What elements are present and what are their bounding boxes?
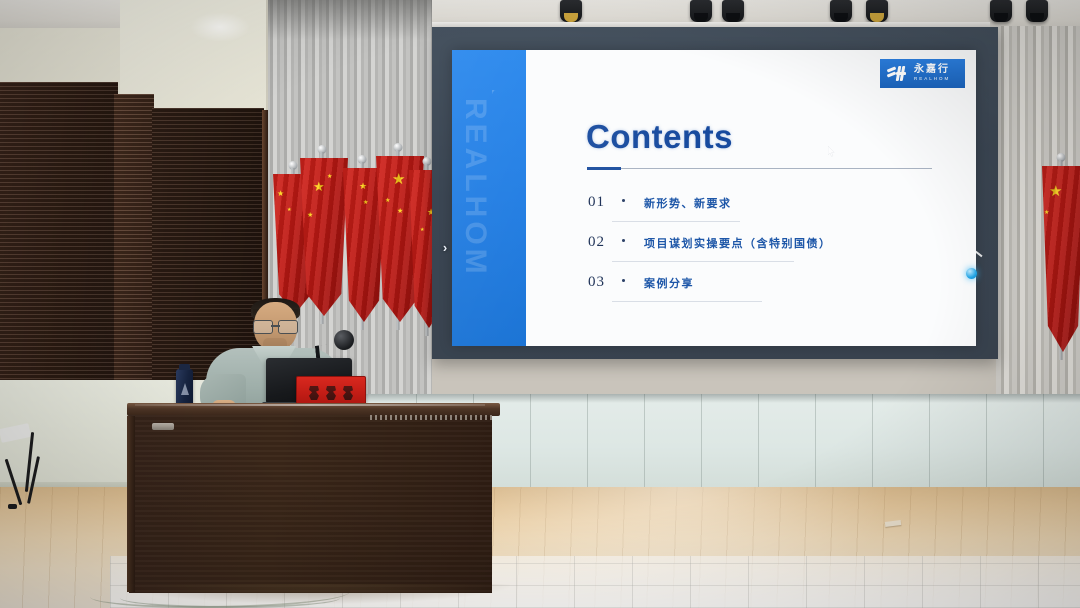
chinese-flag: ★ ★ bbox=[1038, 160, 1080, 360]
item-divider bbox=[612, 301, 762, 302]
ceiling-spotlight bbox=[990, 0, 1012, 22]
tripod-foot bbox=[8, 504, 17, 509]
item-divider bbox=[612, 261, 794, 262]
ceiling-spotlight bbox=[690, 0, 712, 22]
conference-hall-photo: ★ ★ ★ ★ ★ ★ ★ ★ ★ ★ ★ ★ bbox=[0, 0, 1080, 608]
flag-star: ★ bbox=[277, 190, 284, 198]
company-logo: 永嘉行 REALHOM bbox=[880, 59, 965, 88]
wall-light-reflection bbox=[190, 12, 250, 42]
podium-badge bbox=[152, 423, 174, 430]
list-item: 01 新形势、新要求 bbox=[588, 190, 938, 230]
list-item: 03 案例分享 bbox=[588, 270, 938, 310]
podium-floor-shadow bbox=[120, 584, 510, 604]
ceiling-spotlight bbox=[866, 0, 888, 22]
item-separator-dot bbox=[622, 239, 625, 242]
podium-side-panel bbox=[127, 416, 135, 592]
stage-wall-shadow bbox=[246, 394, 1080, 403]
ceiling-spotlight bbox=[722, 0, 744, 22]
ceiling-spotlight bbox=[1026, 0, 1048, 22]
slide-line-art bbox=[492, 90, 526, 250]
item-label: 案例分享 bbox=[644, 275, 694, 291]
flag-star: ★ bbox=[287, 208, 291, 213]
item-label: 新形势、新要求 bbox=[644, 195, 732, 211]
contents-list: 01 新形势、新要求 02 项目谋划实操要点（含特别国债） 03 案例分享 bbox=[588, 190, 938, 310]
tripod-stand bbox=[2, 432, 58, 510]
flag-star: ★ bbox=[397, 208, 403, 215]
projection-screen[interactable]: REALHOM 永嘉行 REALHOM Contents 01 bbox=[452, 50, 976, 346]
item-number: 03 bbox=[588, 274, 605, 291]
podium-front-panel bbox=[129, 415, 492, 593]
logo-english-name: REALHOM bbox=[914, 77, 950, 82]
chevron-right-icon[interactable]: › bbox=[438, 236, 452, 258]
flag-star: ★ bbox=[307, 212, 313, 219]
mic-head bbox=[334, 330, 354, 350]
title-underline-thin bbox=[621, 168, 932, 169]
list-item: 02 项目谋划实操要点（含特别国债） bbox=[588, 230, 938, 270]
flag-star: ★ bbox=[363, 200, 368, 206]
flag-star: ★ bbox=[313, 180, 325, 193]
item-separator-dot bbox=[622, 199, 625, 202]
title-underline bbox=[587, 167, 932, 170]
flag-star: ★ bbox=[420, 228, 424, 233]
flag-star: ★ bbox=[1049, 184, 1062, 199]
title-underline-accent bbox=[587, 167, 621, 170]
wood-slat-panel bbox=[0, 82, 118, 382]
logo-chinese-name: 永嘉行 bbox=[914, 65, 950, 75]
item-number: 01 bbox=[588, 194, 605, 211]
slide-blue-sidebar: REALHOM bbox=[452, 50, 526, 346]
item-number: 02 bbox=[588, 234, 605, 251]
mouse-cursor-icon bbox=[828, 146, 835, 157]
item-divider bbox=[612, 221, 740, 222]
flag-cloth: ★ ★ bbox=[1042, 166, 1080, 352]
flag-star: ★ bbox=[359, 182, 367, 191]
status-indicator-dot[interactable] bbox=[966, 268, 977, 279]
curtain-top-shadow bbox=[266, 0, 432, 40]
slide-watermark: REALHOM bbox=[458, 98, 492, 278]
ceiling-spotlight bbox=[560, 0, 582, 22]
wood-slat-panel bbox=[114, 94, 154, 384]
item-label: 项目谋划实操要点（含特别国债） bbox=[644, 235, 832, 251]
yh-monogram-icon bbox=[886, 64, 908, 83]
presentation-slide: REALHOM 永嘉行 REALHOM Contents 01 bbox=[452, 50, 976, 346]
flag-star: ★ bbox=[327, 174, 332, 180]
flag-star: ★ bbox=[385, 198, 390, 204]
podium-top-highlight bbox=[135, 404, 485, 406]
item-separator-dot bbox=[622, 279, 625, 282]
ceiling-spotlight bbox=[830, 0, 852, 22]
tripod-leg bbox=[5, 459, 23, 506]
slide-title: Contents bbox=[586, 118, 733, 156]
podium-logo-strip bbox=[370, 415, 495, 420]
flag-star: ★ bbox=[1044, 210, 1049, 216]
eyeglasses-icon bbox=[253, 320, 298, 332]
podium bbox=[127, 403, 500, 593]
